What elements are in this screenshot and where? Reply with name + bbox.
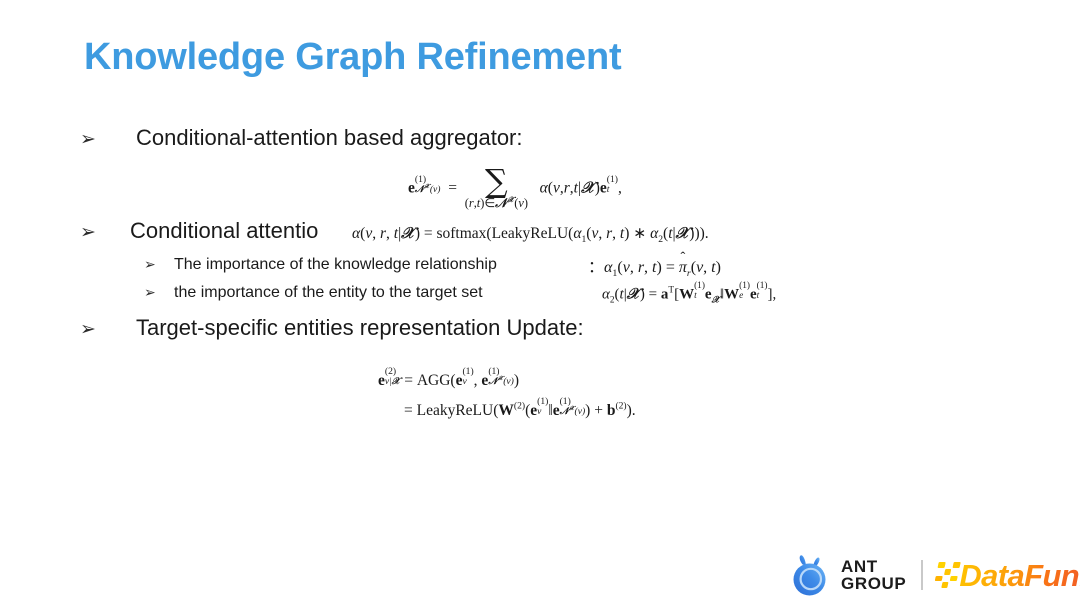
footer-logos: ANT GROUP DataFun. — [788, 548, 1070, 602]
sub-bullet-entity-importance: ➢ the importance of the entity to the ta… — [144, 284, 483, 302]
sub-bullet-relationship-importance: ➢ The importance of the knowledge relati… — [144, 256, 497, 274]
ant-mark-icon — [788, 552, 834, 598]
formula-alpha2: α2(t|𝒳) = aT[W(1)te𝒳‖W(1)ee(1)t], — [602, 283, 776, 303]
bullet-arrow-icon: ➢ — [80, 130, 136, 149]
bullet-target-specific-update: ➢ Target-specific entities representatio… — [80, 316, 584, 340]
formula-alpha1: ：α1(v, r, t) = ̂πr(v, t) — [588, 253, 721, 277]
formula-conditional-attention: α(v, r, t|𝒳) = softmax(LeakyReLU(α1(v, r… — [352, 224, 709, 243]
ant-wordmark-line1: ANT — [841, 558, 906, 575]
bullet-conditional-attention-aggregator: ➢ Conditional-attention based aggregator… — [80, 126, 523, 150]
formula-update-line1: e(2)v|𝒳 = AGG(e(1)v, e(1)𝒩𝒳(v)) — [378, 368, 636, 390]
ant-group-wordmark: ANT GROUP — [841, 558, 906, 592]
datafun-dots-icon — [934, 562, 962, 588]
ant-wordmark-line2: GROUP — [841, 575, 906, 592]
sub-bullet-label: the importance of the entity to the targ… — [174, 284, 483, 302]
datafun-wordmark: DataFun. — [959, 560, 1080, 591]
formula-alpha1-prefix: ： — [588, 259, 604, 276]
slide-canvas: Knowledge Graph Refinement ➢ Conditional… — [0, 0, 1080, 608]
sub-bullet-label: The importance of the knowledge relation… — [174, 256, 497, 274]
bullet-arrow-icon: ➢ — [80, 320, 136, 339]
bullet-label: Conditional attentio — [130, 219, 318, 243]
bullet-arrow-icon: ➢ — [144, 257, 174, 271]
ant-group-logo: ANT GROUP — [788, 552, 906, 598]
datafun-logo: DataFun. — [936, 560, 1080, 591]
bullet-arrow-icon: ➢ — [80, 223, 130, 242]
formula-update-line2: = LeakyReLU(W(2)(e(1)v‖e(1)𝒩𝒳(v)) + b(2)… — [404, 398, 636, 420]
bullet-arrow-icon: ➢ — [144, 285, 174, 299]
bullet-label: Conditional-attention based aggregator: — [136, 126, 523, 150]
formula-representation-update: e(2)v|𝒳 = AGG(e(1)v, e(1)𝒩𝒳(v)) = LeakyR… — [378, 368, 636, 420]
bullet-conditional-attention: ➢ Conditional attentio — [80, 219, 318, 243]
formula-aggregator: e(1)𝒩𝒳(v) = ∑ (r,t)∈𝒩𝒳(v) α(v,r,t|𝒳)e(1)… — [408, 168, 622, 210]
page-title: Knowledge Graph Refinement — [84, 36, 621, 79]
bullet-label: Target-specific entities representation … — [136, 316, 584, 340]
logo-separator — [921, 560, 923, 590]
